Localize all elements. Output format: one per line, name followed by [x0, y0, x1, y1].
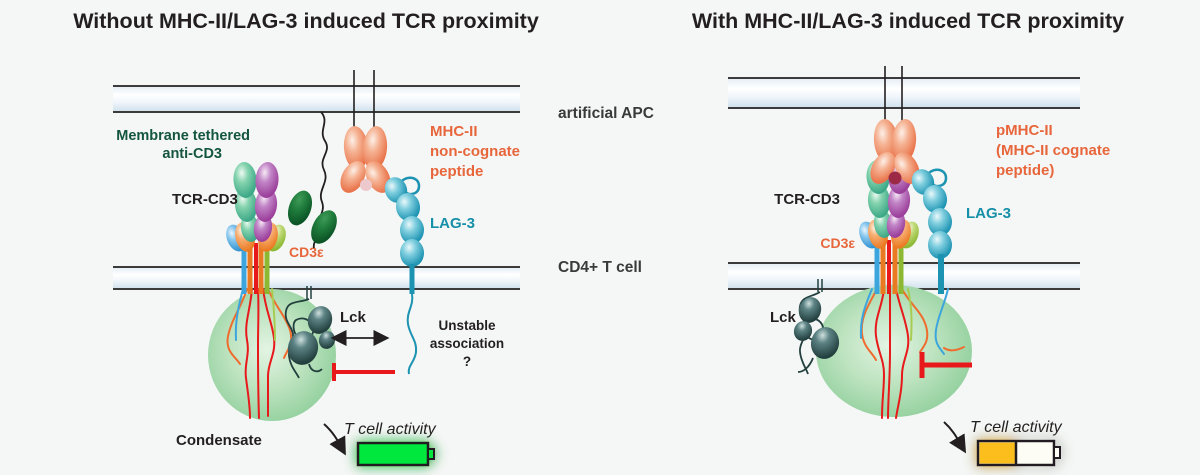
label-lag3-left: LAG-3	[430, 215, 475, 232]
tcell-membrane-left	[113, 267, 520, 289]
label-mhc-line3: peptide	[430, 163, 483, 180]
non-cognate-peptide-dot-left	[360, 179, 372, 191]
label-mhc-line2: non-cognate	[430, 143, 520, 160]
panel-left-title: Without MHC-II/LAG-3 induced TCR proximi…	[73, 9, 539, 33]
label-unstable-line1: Unstable	[438, 318, 496, 333]
label-anti-cd3-line2: anti-CD3	[162, 146, 222, 162]
label-artificial-apc: artificial APC	[558, 105, 654, 122]
label-lag3-right: LAG-3	[966, 205, 1011, 222]
tcell-membrane-right	[728, 263, 1080, 289]
cognate-peptide-dot-right	[889, 172, 902, 185]
label-t-cell-activity-left: T cell activity	[344, 421, 437, 438]
label-cd4-t-cell: CD4+ T cell	[558, 259, 642, 276]
label-pmhc-line1: pMHC-II	[996, 122, 1053, 139]
label-t-cell-activity-right: T cell activity	[970, 419, 1063, 436]
label-condensate-left: Condensate	[176, 432, 262, 449]
label-cd3-epsilon-right: CD3ε	[820, 235, 855, 251]
apc-membrane-right	[728, 78, 1080, 108]
label-pmhc-line2: (MHC-II cognate	[996, 142, 1110, 159]
label-tcr-cd3-right: TCR-CD3	[774, 191, 840, 208]
battery-right	[978, 441, 1060, 465]
label-anti-cd3-line1: Membrane tethered	[116, 128, 250, 144]
label-unstable-line3: ?	[463, 354, 471, 369]
battery-right-fill	[980, 443, 1017, 464]
diagram-svg: Without MHC-II/LAG-3 induced TCR proximi…	[0, 0, 1200, 475]
label-lck-right: Lck	[770, 309, 797, 326]
battery-left	[358, 443, 434, 465]
label-lck-left: Lck	[340, 309, 367, 326]
figure-canvas: Without MHC-II/LAG-3 induced TCR proximi…	[0, 0, 1200, 475]
label-mhc-line1: MHC-II	[430, 123, 478, 140]
label-unstable-line2: association	[430, 336, 504, 351]
label-cd3-epsilon-left: CD3ε	[289, 244, 324, 260]
label-pmhc-line3: peptide)	[996, 162, 1054, 179]
apc-membrane-left	[113, 86, 520, 112]
label-tcr-cd3-left: TCR-CD3	[172, 191, 238, 208]
panel-right-title: With MHC-II/LAG-3 induced TCR proximity	[692, 9, 1124, 33]
background	[0, 0, 1200, 475]
